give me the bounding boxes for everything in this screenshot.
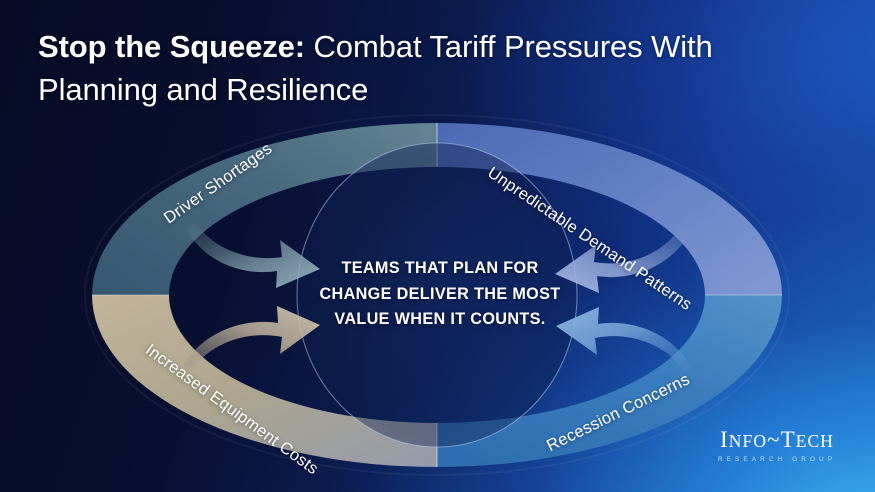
cycle-diagram (0, 0, 875, 492)
slide-canvas: Stop the Squeeze: Combat Tariff Pressure… (0, 0, 875, 492)
center-disc (297, 143, 577, 447)
